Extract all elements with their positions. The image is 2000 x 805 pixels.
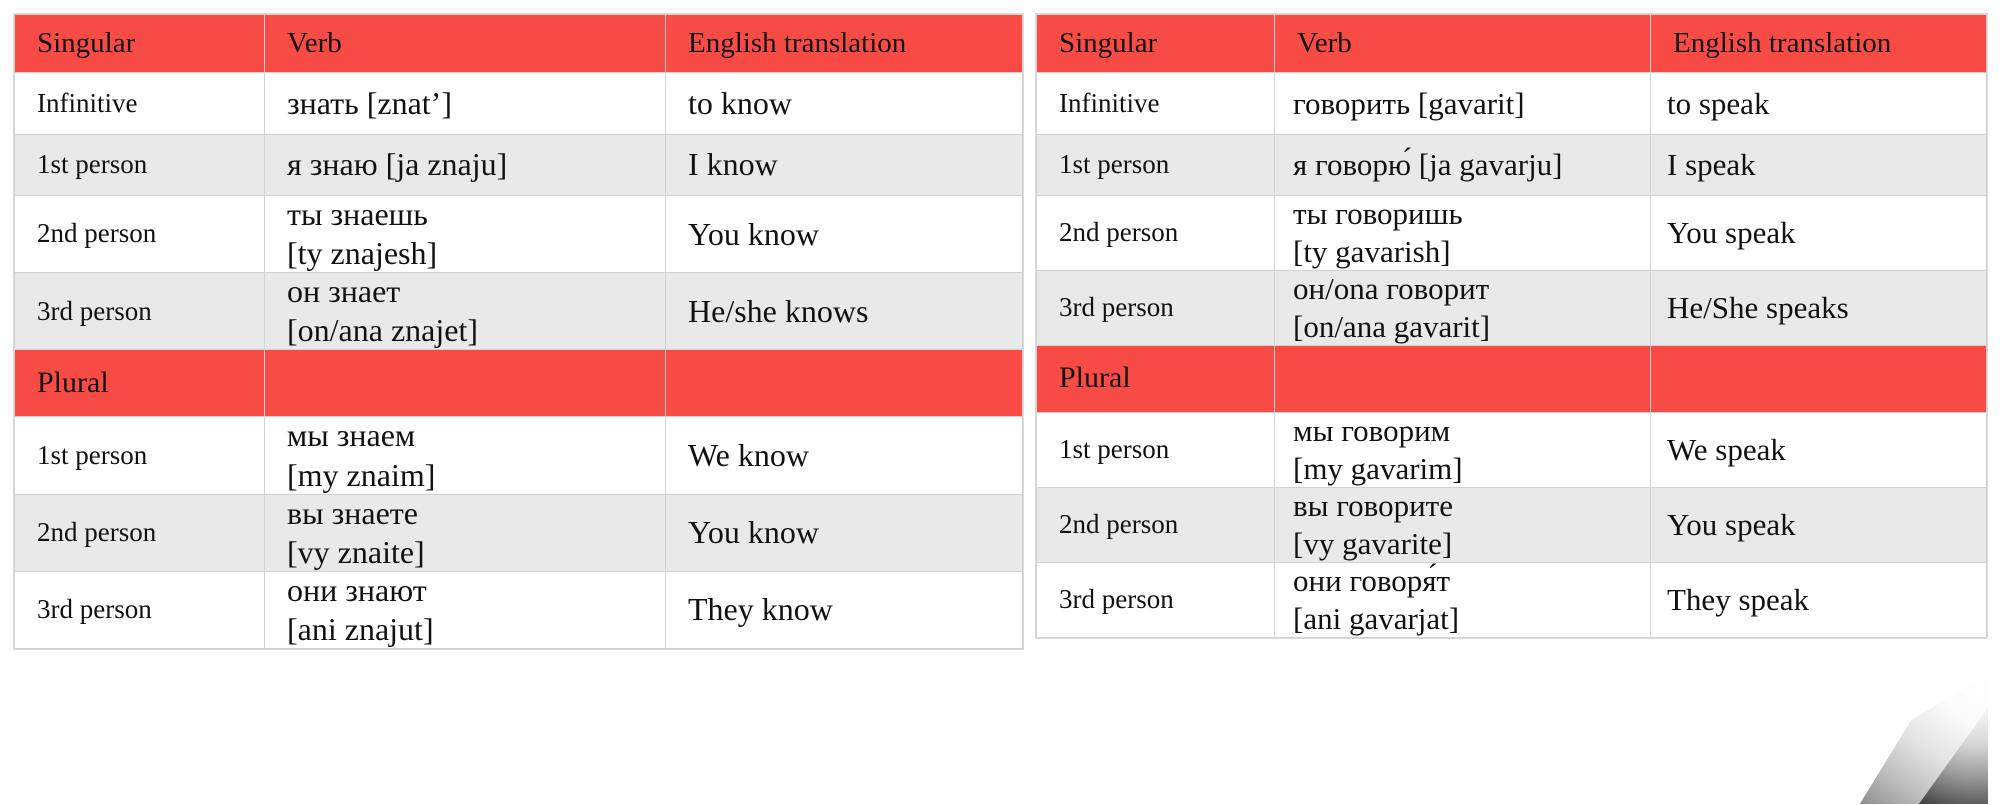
verb-line: они говоря́т (1293, 563, 1650, 599)
verb-transliteration: [on/ana gavarit] (1293, 309, 1650, 345)
verb-transliteration: [my znaim] (287, 457, 665, 494)
table-section-row-plural: Plural (1037, 345, 1987, 412)
cell-english: They speak (1651, 562, 1987, 637)
english-line: You speak (1667, 215, 1986, 251)
verb-line: я говорю́ [ja gavarju] (1293, 147, 1650, 183)
cell-verb: мы говорим [my gavarim] (1275, 412, 1651, 487)
cell-english: He/she knows (666, 273, 1023, 350)
section-label: Plural (1037, 345, 1275, 412)
column-header-verb: Verb (1275, 15, 1651, 73)
cell-verb: я говорю́ [ja gavarju] (1275, 135, 1651, 196)
cell-verb: мы знаем [my znaim] (265, 417, 666, 494)
verb-line: вы знаете (287, 495, 665, 532)
russian-flag-icon (1860, 674, 1988, 804)
cell-english: You know (666, 196, 1023, 273)
column-header-person: Singular (15, 15, 265, 73)
english-line: I know (688, 146, 1022, 183)
table-header-row: Singular Verb English translation (1037, 15, 1987, 73)
flag-band-blue (1860, 717, 1988, 760)
verb-line: ты знаешь (287, 196, 665, 233)
section-spacer-verb (1275, 345, 1651, 412)
cell-verb: они знают [ani znajut] (265, 571, 666, 648)
table-row: 1st person я говорю́ [ja gavarju] I spea… (1037, 135, 1987, 196)
verb-transliteration: [ani znajut] (287, 611, 665, 648)
cell-person: Infinitive (1037, 73, 1275, 135)
verb-line: он/ona говорит (1293, 271, 1650, 307)
verb-transliteration: [on/ana znajet] (287, 312, 665, 349)
cell-english: You speak (1651, 487, 1987, 562)
cell-english: to know (666, 73, 1023, 135)
cell-english: You speak (1651, 196, 1987, 271)
cell-verb: знать [znat’] (265, 73, 666, 135)
english-line: He/she knows (688, 293, 1022, 330)
verb-line: он знает (287, 273, 665, 310)
table-row: 2nd person ты знаешь [ty znajesh] You kn… (15, 196, 1023, 273)
cell-english: You know (666, 494, 1023, 571)
verb-line: вы говорите (1293, 488, 1650, 524)
table-row: 3rd person они знают [ani znajut] They k… (15, 571, 1023, 648)
cell-person: Infinitive (15, 73, 265, 135)
curl-fold-icon (1860, 674, 1988, 804)
cell-person: 1st person (15, 135, 265, 196)
curl-shadow (1860, 674, 1988, 804)
cell-verb: он/ona говорит [on/ana gavarit] (1275, 270, 1651, 345)
cell-english: He/She speaks (1651, 270, 1987, 345)
cell-verb: он знает [on/ana znajet] (265, 273, 666, 350)
cell-person: 2nd person (1037, 487, 1275, 562)
table-row: 2nd person вы говорите [vy gavarite] You… (1037, 487, 1987, 562)
conjugation-table-govorit: Singular Verb English translation Infini… (1036, 14, 1987, 638)
verb-line: знать [znat’] (287, 85, 665, 122)
cell-verb: ты знаешь [ty znajesh] (265, 196, 666, 273)
section-spacer-english (666, 350, 1023, 417)
column-header-verb: Verb (265, 15, 666, 73)
flag-band-red (1860, 761, 1988, 804)
cell-person: 3rd person (15, 571, 265, 648)
table-row: Infinitive говорить [gavarit] to speak (1037, 73, 1987, 135)
english-line: You know (688, 216, 1022, 253)
table-row: 1st person мы знаем [my znaim] We know (15, 417, 1023, 494)
table-header-row: Singular Verb English translation (15, 15, 1023, 73)
table-section-row-plural: Plural (15, 350, 1023, 417)
cell-english: I speak (1651, 135, 1987, 196)
cell-person: 2nd person (15, 494, 265, 571)
flag-band-white (1860, 674, 1988, 717)
english-line: to know (688, 85, 1022, 122)
conjugation-table-znat: Singular Verb English translation Infini… (14, 14, 1023, 649)
verb-line: мы знаем (287, 417, 665, 454)
cell-verb: говорить [gavarit] (1275, 73, 1651, 135)
cell-person: 1st person (15, 417, 265, 494)
section-spacer-english (1651, 345, 1987, 412)
verb-line: они знают (287, 572, 665, 609)
cell-person: 1st person (1037, 412, 1275, 487)
cell-verb: они говоря́т [ani gavarjat] (1275, 562, 1651, 637)
table-row: 3rd person они говоря́т [ani gavarjat] T… (1037, 562, 1987, 637)
verb-transliteration: [vy gavarite] (1293, 526, 1650, 562)
verb-transliteration: [vy znaite] (287, 534, 665, 571)
english-line: to speak (1667, 86, 1986, 122)
verb-transliteration: [my gavarim] (1293, 451, 1650, 487)
english-line: They speak (1667, 582, 1986, 618)
english-line: We know (688, 437, 1022, 474)
verb-line: мы говорим (1293, 413, 1650, 449)
cell-english: We speak (1651, 412, 1987, 487)
cell-person: 3rd person (1037, 270, 1275, 345)
table-row: Infinitive знать [znat’] to know (15, 73, 1023, 135)
cell-person: 3rd person (15, 273, 265, 350)
cell-person: 2nd person (15, 196, 265, 273)
cell-verb: вы знаете [vy znaite] (265, 494, 666, 571)
english-line: They know (688, 591, 1022, 628)
verb-line: ты говоришь (1293, 196, 1650, 232)
column-header-english: English translation (666, 15, 1023, 73)
english-line: He/She speaks (1667, 290, 1986, 326)
table-row: 2nd person ты говоришь [ty gavarish] You… (1037, 196, 1987, 271)
english-line: You speak (1667, 507, 1986, 543)
verb-line: я знаю [ja znaju] (287, 146, 665, 183)
verb-transliteration: [ani gavarjat] (1293, 601, 1650, 637)
cell-verb: я знаю [ja znaju] (265, 135, 666, 196)
cell-person: 3rd person (1037, 562, 1275, 637)
cell-english: to speak (1651, 73, 1987, 135)
section-spacer-verb (265, 350, 666, 417)
verb-transliteration: [ty gavarish] (1293, 234, 1650, 270)
table-row: 2nd person вы знаете [vy znaite] You kno… (15, 494, 1023, 571)
verb-line: говорить [gavarit] (1293, 86, 1650, 122)
cell-person: 1st person (1037, 135, 1275, 196)
table-row: 1st person я знаю [ja znaju] I know (15, 135, 1023, 196)
verb-transliteration: [ty znajesh] (287, 235, 665, 272)
cell-english: We know (666, 417, 1023, 494)
english-line: You know (688, 514, 1022, 551)
english-line: We speak (1667, 432, 1986, 468)
section-label: Plural (15, 350, 265, 417)
table-row: 3rd person он знает [on/ana znajet] He/s… (15, 273, 1023, 350)
cell-english: They know (666, 571, 1023, 648)
column-header-english: English translation (1651, 15, 1987, 73)
column-header-person: Singular (1037, 15, 1275, 73)
page-curl-decoration (1860, 674, 1988, 804)
cell-person: 2nd person (1037, 196, 1275, 271)
table-row: 3rd person он/ona говорит [on/ana gavari… (1037, 270, 1987, 345)
slide-canvas: Singular Verb English translation Infini… (0, 0, 2000, 805)
cell-verb: ты говоришь [ty gavarish] (1275, 196, 1651, 271)
cell-verb: вы говорите [vy gavarite] (1275, 487, 1651, 562)
english-line: I speak (1667, 147, 1986, 183)
table-row: 1st person мы говорим [my gavarim] We sp… (1037, 412, 1987, 487)
cell-english: I know (666, 135, 1023, 196)
